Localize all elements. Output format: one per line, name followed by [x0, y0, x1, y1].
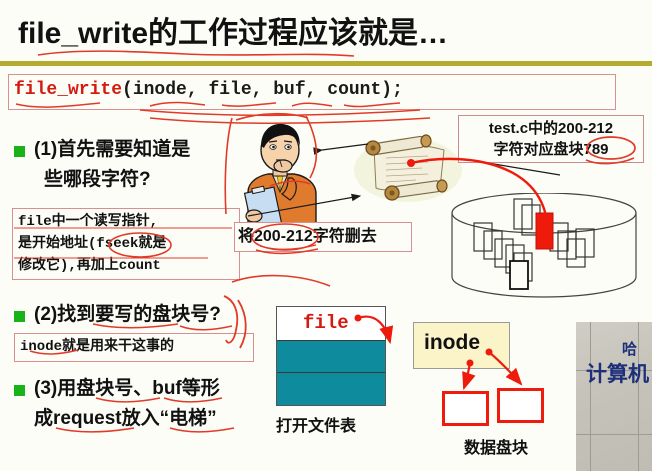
bullet-marker-3 — [14, 385, 25, 396]
photo-text-top: 哈 — [622, 338, 637, 359]
file-table-label: file — [303, 312, 349, 334]
file-table-row-1 — [277, 340, 385, 373]
note-file-pointer-line-3: 修改它),再加上count — [18, 256, 161, 277]
file-table-row-2 — [277, 372, 385, 405]
open-file-table-caption: 打开文件表 — [276, 412, 356, 436]
disk-cylinder — [448, 193, 644, 301]
campus-photo: 哈 计算机 — [576, 322, 652, 471]
bullet-3-line-2: 成request放入“电梯” — [34, 405, 217, 432]
note-file-pointer-line-2: 是开始地址(fseek就是 — [18, 234, 166, 255]
thinking-person-icon — [232, 120, 328, 230]
data-block-1 — [442, 391, 489, 426]
bullet-2-line-1: (2)找到要写的盘块号? — [34, 301, 221, 328]
note-delete-chars-text: 将200-212字符删去 — [238, 226, 377, 247]
bullet-1-line-2: 些哪段字符? — [44, 166, 151, 193]
callout-testc-line-2: 字符对应盘块789 — [458, 140, 644, 160]
bullet-marker-1 — [14, 146, 25, 157]
code-arguments: (inode, file, buf, count); — [122, 80, 403, 100]
bullet-marker-2 — [14, 311, 25, 322]
bullet-1-line-1: (1)首先需要知道是 — [34, 136, 190, 163]
code-line: file_write(inode, file, buf, count); — [14, 80, 403, 100]
note-file-pointer-line-1: file中一个读写指针, — [18, 212, 158, 233]
note-inode-text: inode就是用来干这事的 — [20, 337, 174, 358]
data-block-caption: 数据盘块 — [464, 434, 528, 458]
inode-label: inode — [424, 331, 480, 355]
callout-testc-line-1: test.c中的200-212 — [458, 119, 644, 139]
code-function-name: file_write — [14, 80, 122, 100]
slide-canvas: file_write的工作过程应该就是… file_write(inode, f… — [0, 0, 652, 471]
photo-text-main: 计算机 — [586, 358, 649, 388]
title-divider — [0, 61, 652, 66]
data-block-2 — [497, 388, 544, 423]
title-underline-scribble — [36, 47, 356, 59]
page-title: file_write的工作过程应该就是… — [18, 8, 448, 52]
bullet-3-line-1: (3)用盘块号、buf等形 — [34, 375, 220, 402]
